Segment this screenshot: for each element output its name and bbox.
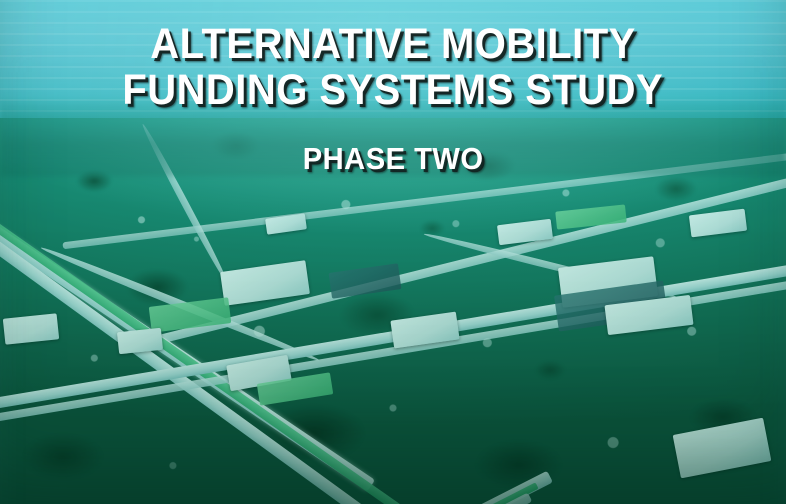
title-line-1: ALTERNATIVE MOBILITY: [150, 24, 635, 65]
title-line-2: FUNDING SYSTEMS STUDY: [123, 70, 664, 111]
cover-slide: ALTERNATIVE MOBILITY FUNDING SYSTEMS STU…: [0, 0, 786, 504]
title-block: ALTERNATIVE MOBILITY FUNDING SYSTEMS STU…: [0, 0, 786, 504]
subtitle-phase: PHASE TWO: [303, 141, 484, 177]
